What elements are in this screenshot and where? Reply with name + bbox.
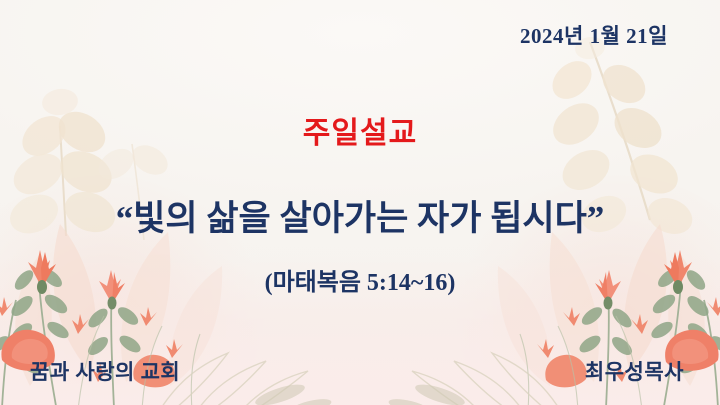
service-date: 2024년 1월 21일 bbox=[520, 20, 668, 50]
sermon-label: 주일설교 bbox=[0, 108, 720, 152]
pastor-name: 최우성목사 bbox=[585, 356, 684, 386]
scripture-reference: (마태복음 5:14~16) bbox=[0, 262, 720, 297]
sermon-slide: 2024년 1월 21일 주일설교 “빛의 삶을 살아가는 자가 됩시다” (마… bbox=[0, 0, 720, 405]
sermon-title: “빛의 삶을 살아가는 자가 됩시다” bbox=[0, 190, 720, 241]
church-name: 꿈과 사랑의 교회 bbox=[30, 356, 180, 386]
